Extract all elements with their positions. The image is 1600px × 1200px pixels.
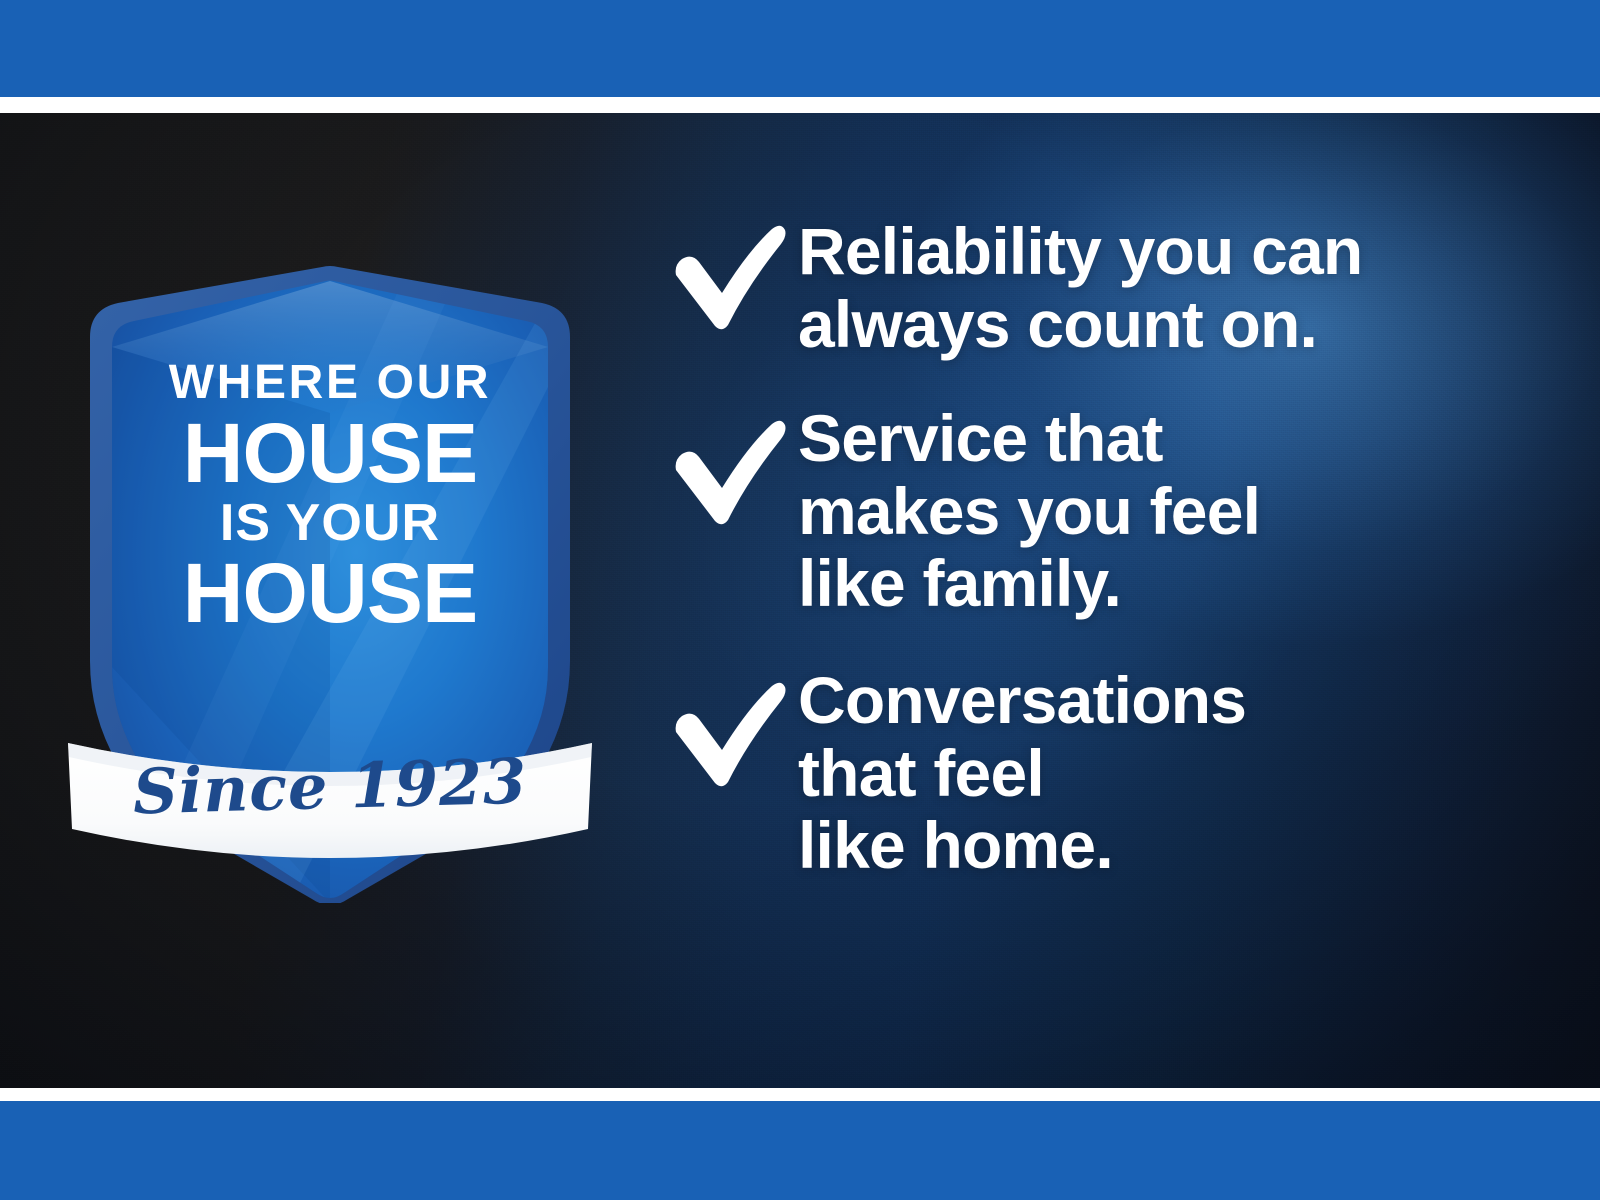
benefit-item-3: Conversations that feel like home.	[668, 664, 1568, 882]
shield-badge: WHERE OUR HOUSE IS YOUR HOUSE Since 1923	[60, 263, 600, 903]
badge-tagline: WHERE OUR HOUSE IS YOUR HOUSE	[60, 359, 600, 635]
benefits-list: Reliability you can always count on. Ser…	[668, 215, 1568, 882]
badge-line-4: HOUSE	[60, 551, 600, 635]
benefit-text-2: Service that makes you feel like family.	[798, 402, 1568, 620]
checkmark-icon	[668, 402, 798, 526]
benefit-item-1: Reliability you can always count on.	[668, 215, 1568, 360]
badge-line-2: HOUSE	[60, 411, 600, 495]
top-brand-bar	[0, 0, 1600, 97]
main-stage: WHERE OUR HOUSE IS YOUR HOUSE Since 1923…	[0, 113, 1600, 1088]
promo-graphic: WHERE OUR HOUSE IS YOUR HOUSE Since 1923…	[0, 0, 1600, 1200]
benefit-text-3: Conversations that feel like home.	[798, 664, 1568, 882]
benefit-text-1: Reliability you can always count on.	[798, 215, 1568, 360]
badge-line-1: WHERE OUR	[60, 359, 600, 407]
badge-line-3: IS YOUR	[60, 497, 600, 549]
ribbon-since-text: Since 1923	[59, 742, 601, 830]
checkmark-icon	[668, 215, 798, 331]
benefit-item-2: Service that makes you feel like family.	[668, 402, 1568, 620]
bottom-brand-bar	[0, 1101, 1600, 1200]
checkmark-icon	[668, 664, 798, 788]
